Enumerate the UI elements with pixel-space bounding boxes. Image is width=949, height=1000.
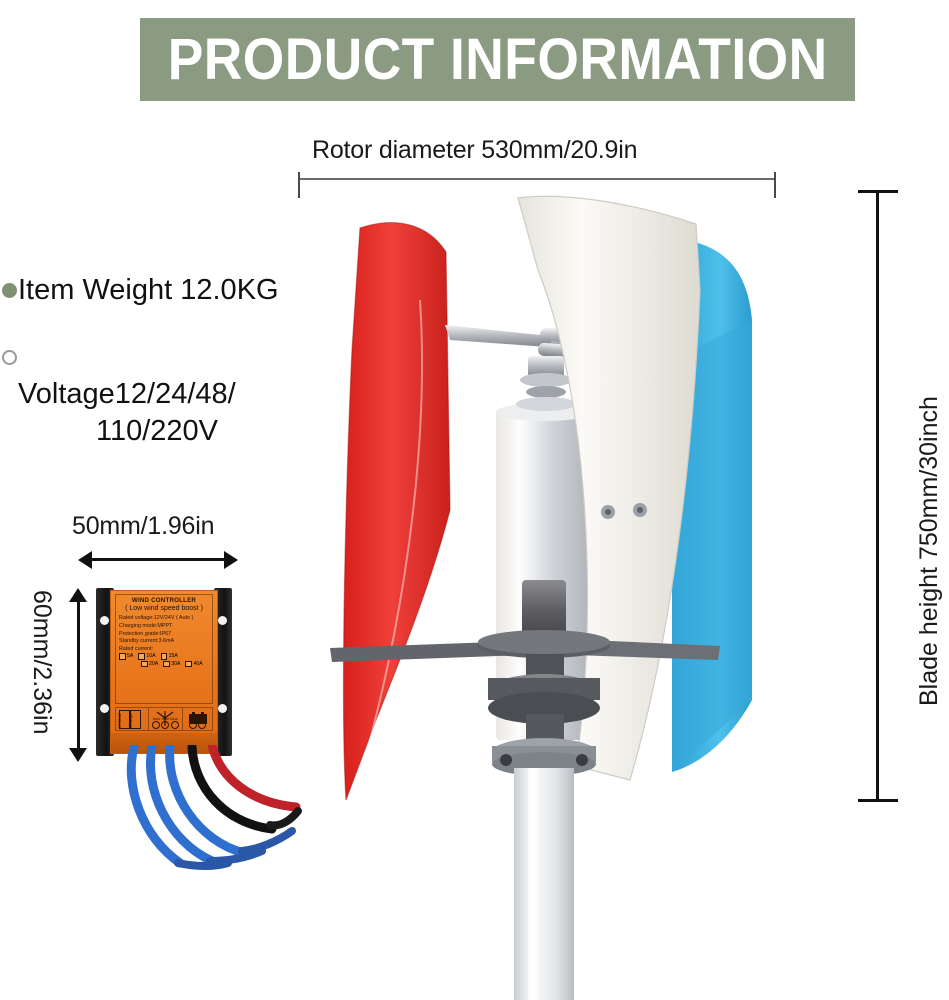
wire-tip-blue-1: [178, 863, 228, 866]
blade-red: [344, 223, 450, 800]
flange-bolt: [576, 754, 588, 766]
controller-subtitle: ( Low wind speed boost ): [119, 605, 209, 613]
mast-pole: [514, 768, 574, 1000]
spec-item-voltage: Voltage12/24/48/ 110/220V: [2, 339, 332, 487]
controller-spec-voltage: Rated voltage:12V/24V ( Auto ): [119, 615, 209, 621]
controller-body: WIND CONTROLLER ( Low wind speed boost )…: [110, 590, 218, 754]
checkbox-5a[interactable]: 5A: [119, 653, 133, 660]
terminal-group-turbine: blue blue blue: [149, 708, 184, 730]
arrow-head-down-icon: [69, 748, 87, 762]
bullet-hollow-icon: [2, 350, 17, 365]
mounting-hole-icon: [218, 616, 227, 625]
product-information-page: PRODUCT INFORMATION Rotor diameter 530mm…: [0, 0, 949, 1000]
checkbox-40a[interactable]: 40A: [185, 661, 202, 668]
terminal-dot[interactable]: [171, 721, 179, 729]
wire-tip-blue-3: [242, 831, 292, 851]
checkbox-icon[interactable]: [185, 661, 192, 668]
terminal-dot[interactable]: [152, 721, 160, 729]
flange-bolt: [500, 754, 512, 766]
rated-current-options-row-1: 5A 10A 15A: [119, 653, 209, 660]
checkbox-30a-label: 30A: [171, 661, 180, 667]
controller-spec-protection-grade: Protection grade:IP67: [119, 631, 209, 637]
controller-spec-standby-current: Standby current:3.6mA: [119, 638, 209, 644]
arrow-head-right-icon: [224, 551, 238, 569]
checkbox-15a[interactable]: 15A: [161, 653, 178, 660]
terminal-dot[interactable]: [189, 721, 197, 729]
bullet-filled-icon: [2, 283, 17, 298]
page-title: PRODUCT INFORMATION: [168, 31, 828, 89]
header-banner: PRODUCT INFORMATION: [140, 18, 855, 101]
charge-label: Charge: [128, 713, 133, 728]
unload-label: Unload: [117, 713, 122, 728]
spec-voltage-line2: 110/220V: [18, 413, 236, 450]
arrow-head-left-icon: [78, 551, 92, 569]
checkbox-icon[interactable]: [163, 661, 170, 668]
controller-height-label: 60mm/2.36in: [27, 590, 56, 735]
arrow-head-up-icon: [69, 588, 87, 602]
blade-height-tick-bottom: [858, 799, 898, 802]
spec-voltage-line1: Voltage12/24/48/: [18, 378, 236, 410]
rated-current-options-row-2: 20A 30A 40A: [119, 661, 209, 668]
spec-item-weight: Item Weight 12.0KG: [2, 272, 332, 309]
checkbox-15a-label: 15A: [169, 653, 178, 659]
checkbox-30a[interactable]: 30A: [163, 661, 180, 668]
wind-controller-unit: WIND CONTROLLER ( Low wind speed boost )…: [96, 588, 232, 756]
battery-terminal-dots: [183, 721, 212, 729]
rotor-diameter-label: Rotor diameter 530mm/20.9in: [312, 136, 637, 165]
controller-width-arrow-line: [88, 558, 228, 561]
checkbox-icon[interactable]: [138, 653, 145, 660]
controller-width-label: 50mm/1.96in: [72, 512, 214, 541]
checkbox-5a-label: 5A: [127, 653, 133, 659]
controller-label-panel: WIND CONTROLLER ( Low wind speed boost )…: [115, 594, 213, 704]
mounting-hole-icon: [100, 704, 109, 713]
wire-tip-black: [270, 811, 298, 825]
checkbox-20a-label: 20A: [149, 661, 158, 667]
vertical-axis-wind-turbine-illustration: [300, 180, 820, 1000]
terminal-dot[interactable]: [161, 721, 169, 729]
spec-item-weight-label: Item Weight 12.0KG: [18, 272, 279, 309]
turbine-terminal-dots: [149, 721, 183, 729]
spec-list: Item Weight 12.0KG Voltage12/24/48/ 110/…: [2, 272, 332, 518]
controller-spec-charging-mode: Charging mode:MPPT: [119, 623, 209, 629]
blade-height-label: Blade height 750mm/30inch: [915, 396, 944, 706]
checkbox-icon[interactable]: [119, 653, 126, 660]
blade-height-tick-top: [858, 190, 898, 193]
terminal-group-load: Unload Charge: [116, 708, 149, 730]
wire-red: [212, 745, 296, 807]
checkbox-icon[interactable]: [141, 661, 148, 668]
checkbox-10a[interactable]: 10A: [138, 653, 155, 660]
checkbox-10a-label: 10A: [146, 653, 155, 659]
controller-terminal-panel: Unload Charge blue blue blue: [115, 707, 213, 731]
checkbox-20a[interactable]: 20A: [141, 661, 158, 668]
mast-highlight: [528, 768, 538, 1000]
mounting-hole-icon: [100, 616, 109, 625]
controller-title: WIND CONTROLLER: [119, 597, 209, 604]
controller-rated-current-label: Rated current:: [119, 646, 209, 652]
blade-height-dimension-line: [876, 190, 879, 802]
spec-item-voltage-label: Voltage12/24/48/ 110/220V: [18, 339, 236, 487]
mounting-hole-icon: [218, 704, 227, 713]
wire-black: [192, 747, 272, 829]
checkbox-40a-label: 40A: [193, 661, 202, 667]
terminal-dot[interactable]: [198, 721, 206, 729]
controller-height-arrow-line: [77, 600, 80, 752]
checkbox-icon[interactable]: [161, 653, 168, 660]
terminal-group-battery: black red: [183, 708, 212, 730]
